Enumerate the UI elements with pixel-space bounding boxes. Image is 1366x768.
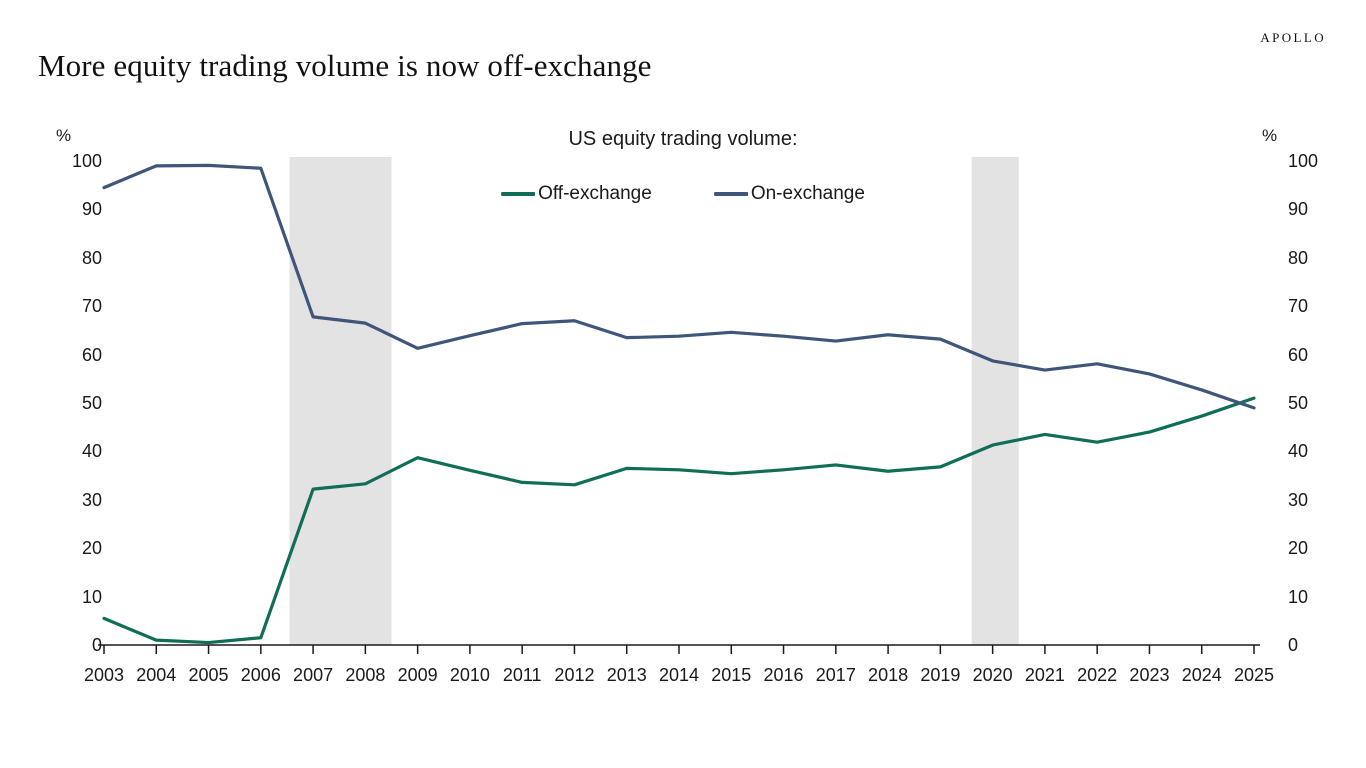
legend-item-on-exchange[interactable]: On-exchange [714, 183, 865, 205]
legend-item-label: On-exchange [751, 183, 865, 205]
series-line-off-exchange [104, 398, 1254, 642]
legend-item-off-exchange[interactable]: Off-exchange [501, 183, 652, 205]
recession-band-2020 [972, 157, 1019, 645]
legend-swatch-icon [714, 192, 748, 196]
line-chart-plot [0, 0, 1366, 768]
legend-title: US equity trading volume: [568, 128, 797, 151]
chart-legend: Off-exchangeOn-exchange [501, 183, 865, 205]
legend-item-label: Off-exchange [538, 183, 652, 205]
chart-area: % % 1009080706050403020100 1009080706050… [0, 0, 1366, 768]
recession-band-2007-2009 [290, 157, 392, 645]
legend-swatch-icon [501, 192, 535, 196]
